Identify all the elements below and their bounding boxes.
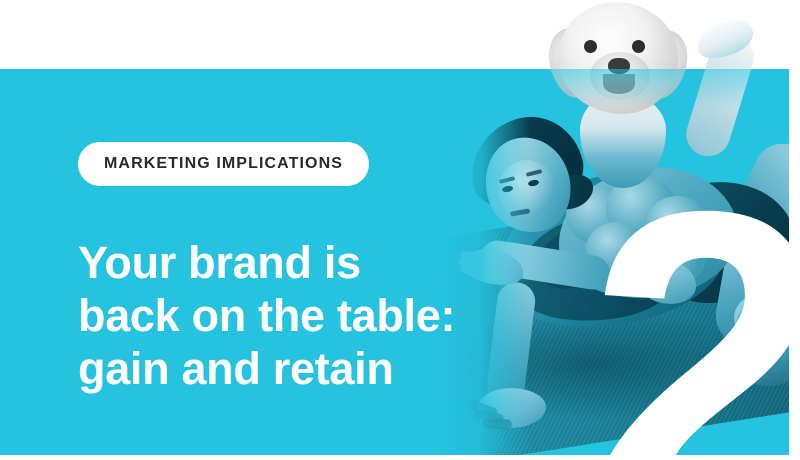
page-title: Your brand is back on the table: gain an… — [78, 236, 498, 395]
headline-line-1: Your brand is — [78, 236, 498, 289]
dog-eye-right — [632, 40, 645, 53]
dog-eye-left — [584, 40, 597, 53]
headline-line-3: gain and retain — [78, 342, 498, 395]
eyebrow-label: MARKETING IMPLICATIONS — [104, 155, 343, 173]
slide-number: 2 — [587, 148, 800, 460]
headline-line-2: back on the table: — [78, 289, 498, 342]
eyebrow-badge: MARKETING IMPLICATIONS — [78, 142, 369, 186]
right-edge-strip — [789, 0, 800, 460]
marketing-slide: 2 MARKETING IMPLICATIONS Your brand is b… — [0, 0, 800, 460]
text-content: MARKETING IMPLICATIONS Your brand is bac… — [0, 0, 470, 460]
